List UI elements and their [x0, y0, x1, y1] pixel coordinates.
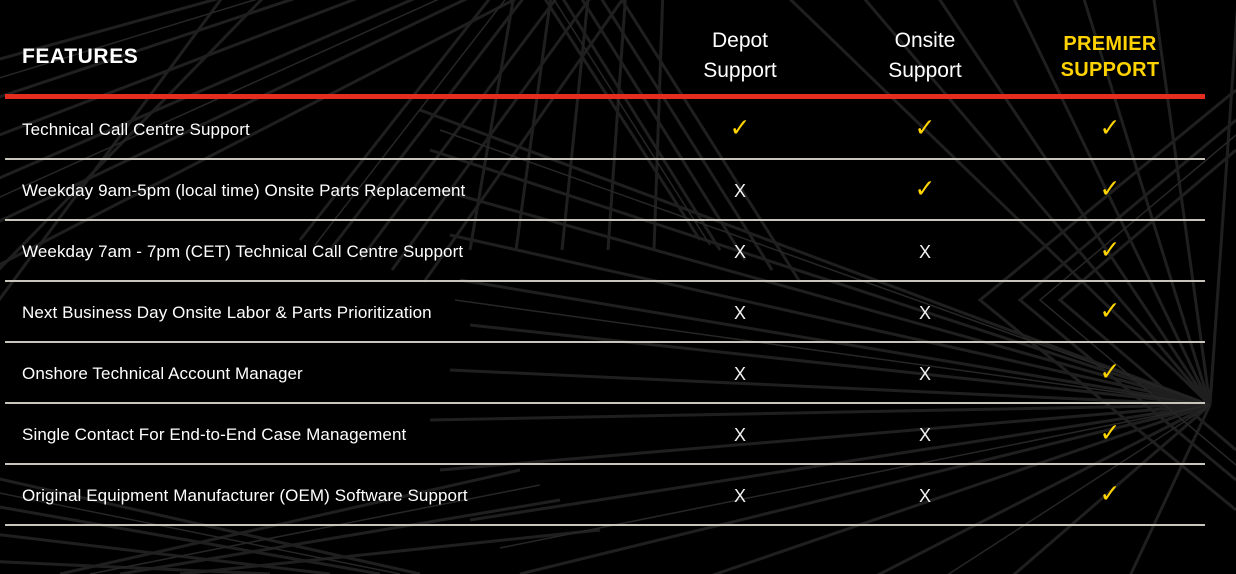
cell-premier: ✓: [1020, 465, 1200, 526]
check-icon: ✓: [1100, 238, 1121, 263]
check-icon: ✓: [1100, 421, 1121, 446]
cell-onsite: X: [835, 343, 1015, 404]
feature-rows: Technical Call Centre Support✓✓✓Weekday …: [0, 99, 1236, 526]
table-row: Onshore Technical Account ManagerXX✓: [0, 343, 1236, 404]
feature-label: Onshore Technical Account Manager: [22, 343, 303, 404]
feature-label: Original Equipment Manufacturer (OEM) So…: [22, 465, 468, 526]
column-header-depot-support: Depot Support: [650, 26, 830, 86]
cell-premier: ✓: [1020, 160, 1200, 221]
table-row: Weekday 7am - 7pm (CET) Technical Call C…: [0, 221, 1236, 282]
feature-label: Weekday 7am - 7pm (CET) Technical Call C…: [22, 221, 463, 282]
cell-depot: X: [650, 160, 830, 221]
cell-onsite: X: [835, 404, 1015, 465]
table-row: Next Business Day Onsite Labor & Parts P…: [0, 282, 1236, 343]
table-row: Weekday 9am-5pm (local time) Onsite Part…: [0, 160, 1236, 221]
cell-premier: ✓: [1020, 282, 1200, 343]
cell-depot: ✓: [650, 99, 830, 160]
column-header-premier-line1: PREMIER: [1020, 31, 1200, 57]
column-header-premier-support: PREMIER SUPPORT: [1020, 31, 1200, 83]
check-icon: ✓: [915, 177, 936, 202]
cross-icon: X: [919, 426, 931, 444]
cell-onsite: X: [835, 465, 1015, 526]
row-separator: [5, 524, 1205, 526]
feature-label: Next Business Day Onsite Labor & Parts P…: [22, 282, 432, 343]
cell-onsite: ✓: [835, 160, 1015, 221]
cell-premier: ✓: [1020, 99, 1200, 160]
column-header-premier-line2: SUPPORT: [1020, 57, 1200, 83]
table-row: Original Equipment Manufacturer (OEM) So…: [0, 465, 1236, 526]
table-header: FEATURES Depot Support Onsite Support PR…: [0, 0, 1236, 94]
table-row: Single Contact For End-to-End Case Manag…: [0, 404, 1236, 465]
cross-icon: X: [919, 365, 931, 383]
cross-icon: X: [734, 243, 746, 261]
cell-premier: ✓: [1020, 404, 1200, 465]
features-column-title: FEATURES: [22, 46, 138, 67]
column-header-onsite-line2: Support: [835, 56, 1015, 86]
table-row: Technical Call Centre Support✓✓✓: [0, 99, 1236, 160]
cross-icon: X: [734, 304, 746, 322]
check-icon: ✓: [1100, 482, 1121, 507]
column-header-onsite-line1: Onsite: [835, 26, 1015, 56]
check-icon: ✓: [1100, 177, 1121, 202]
cross-icon: X: [919, 487, 931, 505]
cross-icon: X: [919, 243, 931, 261]
feature-label: Technical Call Centre Support: [22, 99, 250, 160]
cell-premier: ✓: [1020, 221, 1200, 282]
cell-depot: X: [650, 221, 830, 282]
check-icon: ✓: [730, 116, 751, 141]
cell-premier: ✓: [1020, 343, 1200, 404]
cell-onsite: X: [835, 282, 1015, 343]
cross-icon: X: [919, 304, 931, 322]
cell-onsite: X: [835, 221, 1015, 282]
column-header-depot-line2: Support: [650, 56, 830, 86]
check-icon: ✓: [1100, 299, 1121, 324]
cell-depot: X: [650, 404, 830, 465]
feature-label: Single Contact For End-to-End Case Manag…: [22, 404, 406, 465]
cell-depot: X: [650, 343, 830, 404]
check-icon: ✓: [1100, 360, 1121, 385]
cell-depot: X: [650, 465, 830, 526]
cross-icon: X: [734, 487, 746, 505]
feature-label: Weekday 9am-5pm (local time) Onsite Part…: [22, 160, 465, 221]
support-comparison-slide: FEATURES Depot Support Onsite Support PR…: [0, 0, 1236, 574]
cross-icon: X: [734, 182, 746, 200]
cross-icon: X: [734, 365, 746, 383]
header-accent-rule: [5, 94, 1205, 99]
cell-onsite: ✓: [835, 99, 1015, 160]
check-icon: ✓: [1100, 116, 1121, 141]
column-header-depot-line1: Depot: [650, 26, 830, 56]
cross-icon: X: [734, 426, 746, 444]
column-header-onsite-support: Onsite Support: [835, 26, 1015, 86]
cell-depot: X: [650, 282, 830, 343]
comparison-table: FEATURES Depot Support Onsite Support PR…: [0, 0, 1236, 574]
check-icon: ✓: [915, 116, 936, 141]
